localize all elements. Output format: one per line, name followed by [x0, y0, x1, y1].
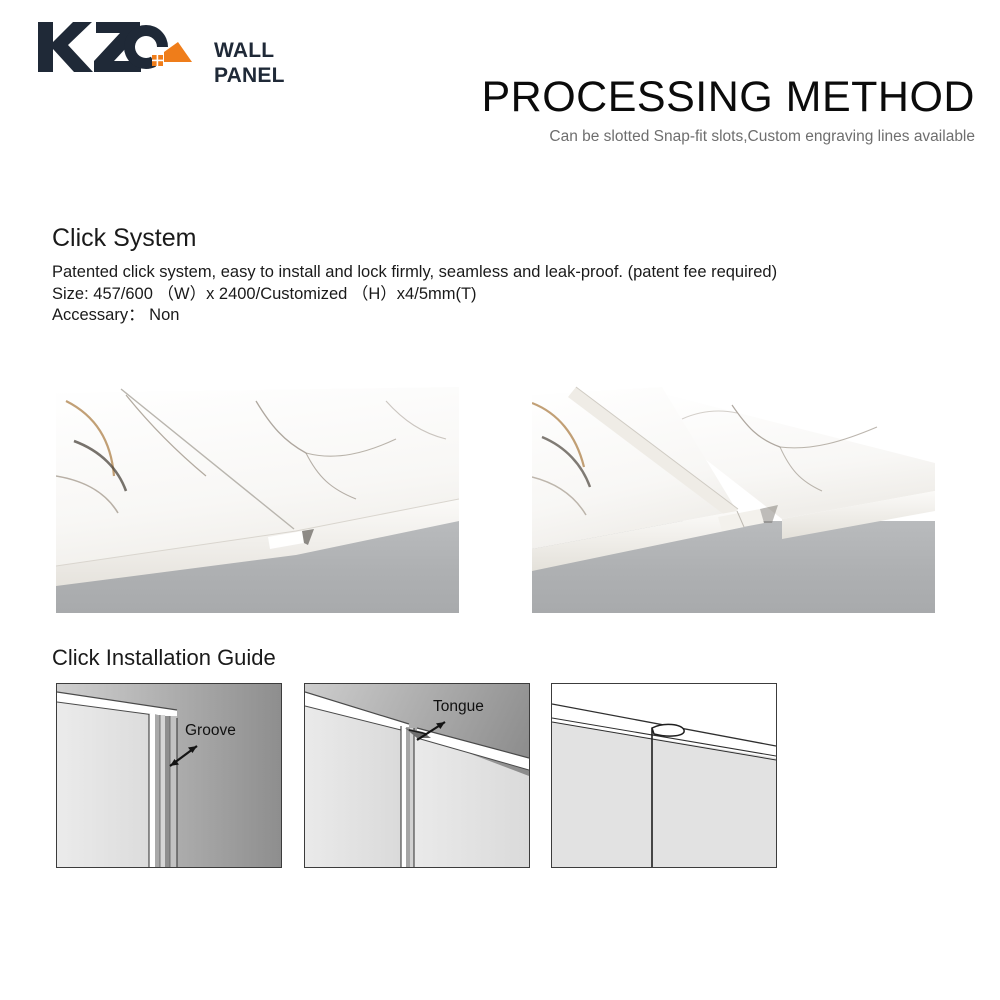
page-header: WALL PANEL PROCESSING METHOD Can be slot…: [0, 0, 1000, 170]
diagram-label-groove: Groove: [185, 722, 236, 740]
diagram-joined: [551, 683, 777, 868]
section-heading-click-system: Click System: [52, 224, 196, 253]
photo-panels-joined: [56, 381, 459, 613]
diagram-groove-graphic: [57, 684, 281, 867]
page-subtitle: Can be slotted Snap-fit slots,Custom eng…: [355, 128, 975, 146]
diagram-joined-graphic: [552, 684, 776, 867]
install-diagram-row: Groove: [56, 683, 776, 868]
spec-line-description: Patented click system, easy to install a…: [52, 262, 952, 284]
title-block: PROCESSING METHOD Can be slotted Snap-fi…: [355, 74, 975, 146]
kzq-logo-icon: [34, 16, 194, 78]
photo-panels-profile: [532, 381, 935, 613]
page-title: PROCESSING METHOD: [355, 74, 975, 120]
diagram-label-tongue: Tongue: [433, 698, 484, 716]
product-photo-row: [56, 381, 946, 613]
spec-line-size: Size: 457/600 （W）x 2400/Customized （H）x4…: [52, 284, 952, 306]
logo-word-wall: WALL: [214, 38, 285, 63]
section-heading-install-guide: Click Installation Guide: [52, 645, 276, 671]
logo-word-panel: PANEL: [214, 63, 285, 88]
spec-line-accessary: Accessary： Non: [52, 305, 952, 327]
diagram-tongue: Tongue: [304, 683, 530, 868]
panel-illustration-left: [56, 381, 459, 613]
spec-list: Patented click system, easy to install a…: [52, 262, 952, 327]
diagram-tongue-graphic: [305, 684, 529, 867]
brand-logo: WALL PANEL: [34, 16, 264, 86]
diagram-groove: Groove: [56, 683, 282, 868]
panel-illustration-right: [532, 381, 935, 613]
